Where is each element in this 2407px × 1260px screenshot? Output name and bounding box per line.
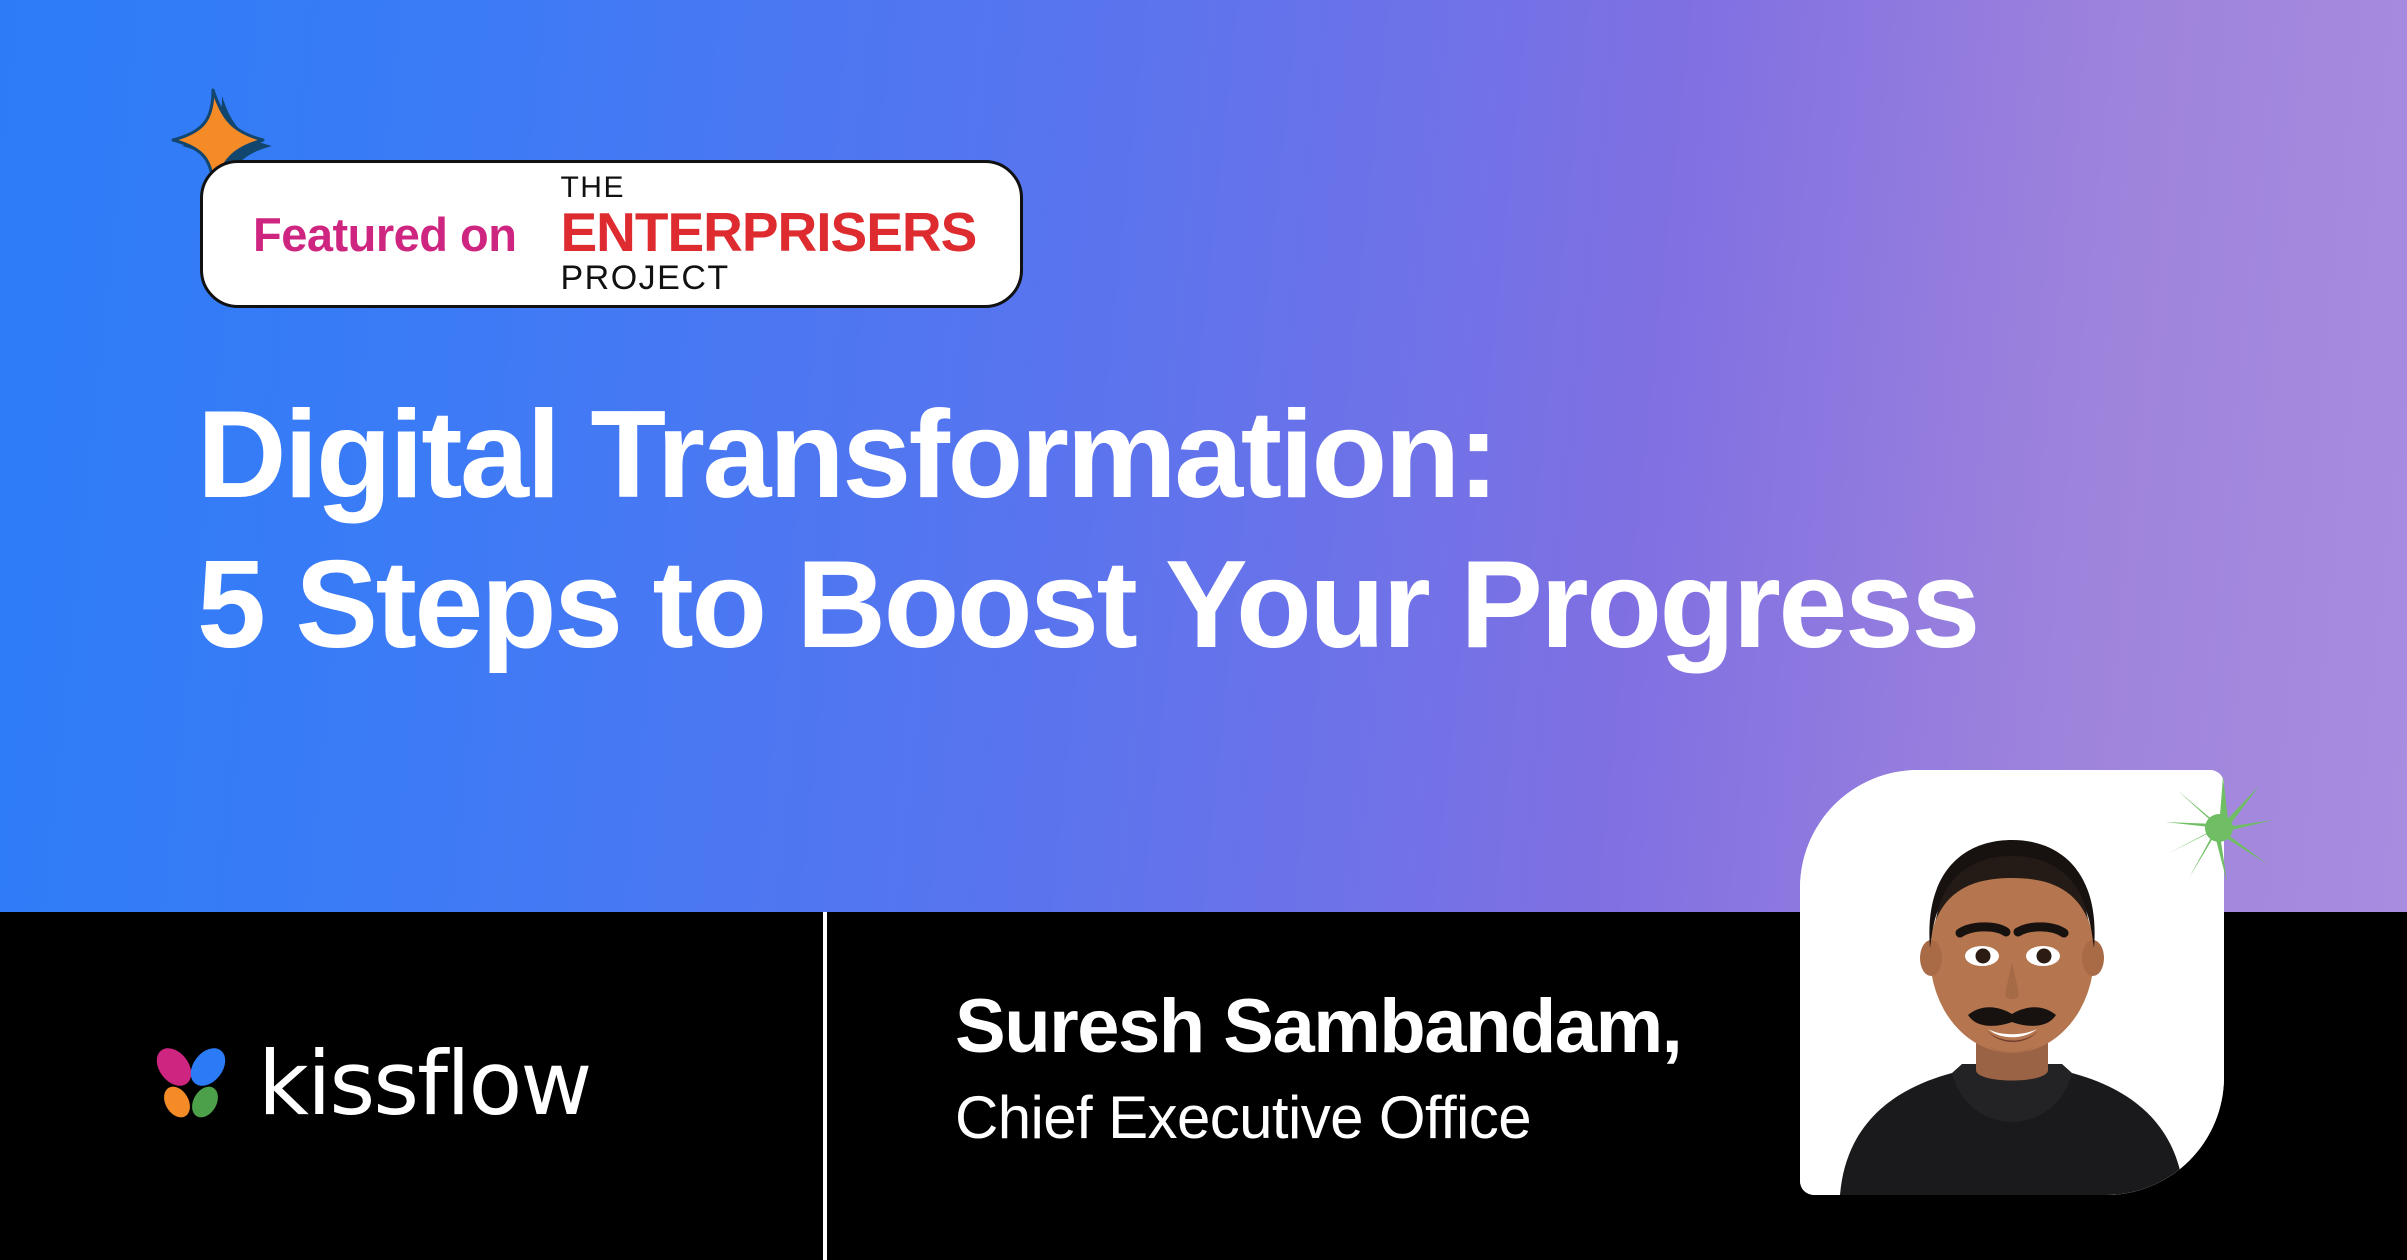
publication-the: THE <box>560 173 976 203</box>
green-starburst-icon <box>2163 772 2275 884</box>
kissflow-butterfly-icon <box>148 1041 234 1127</box>
speaker-portrait <box>1800 770 2224 1195</box>
featured-label: Featured on <box>253 207 516 262</box>
speaker-info: Suresh Sambandam, Chief Executive Office <box>955 985 1681 1152</box>
publication-project: PROJECT <box>560 261 976 295</box>
speaker-photo-card <box>1800 770 2224 1195</box>
hero-title-line-2: 5 Steps to Boost Your Progress <box>197 530 2147 680</box>
publication-enterprisers: ENTERPRISERS <box>560 206 976 258</box>
speaker-name: Suresh Sambandam, <box>955 985 1681 1069</box>
promo-card: Featured on THE ENTERPRISERS PROJECT Dig… <box>0 0 2407 1260</box>
speaker-role: Chief Executive Office <box>955 1083 1681 1152</box>
hero-title: Digital Transformation: 5 Steps to Boost… <box>197 380 2147 680</box>
footer-divider <box>823 912 827 1260</box>
kissflow-logo[interactable]: kissflow <box>148 1040 590 1128</box>
enterprisers-project-logo: THE ENTERPRISERS PROJECT <box>560 173 976 295</box>
hero-title-line-1: Digital Transformation: <box>197 380 2147 530</box>
featured-badge[interactable]: Featured on THE ENTERPRISERS PROJECT <box>200 160 1023 308</box>
kissflow-wordmark: kissflow <box>258 1040 590 1128</box>
